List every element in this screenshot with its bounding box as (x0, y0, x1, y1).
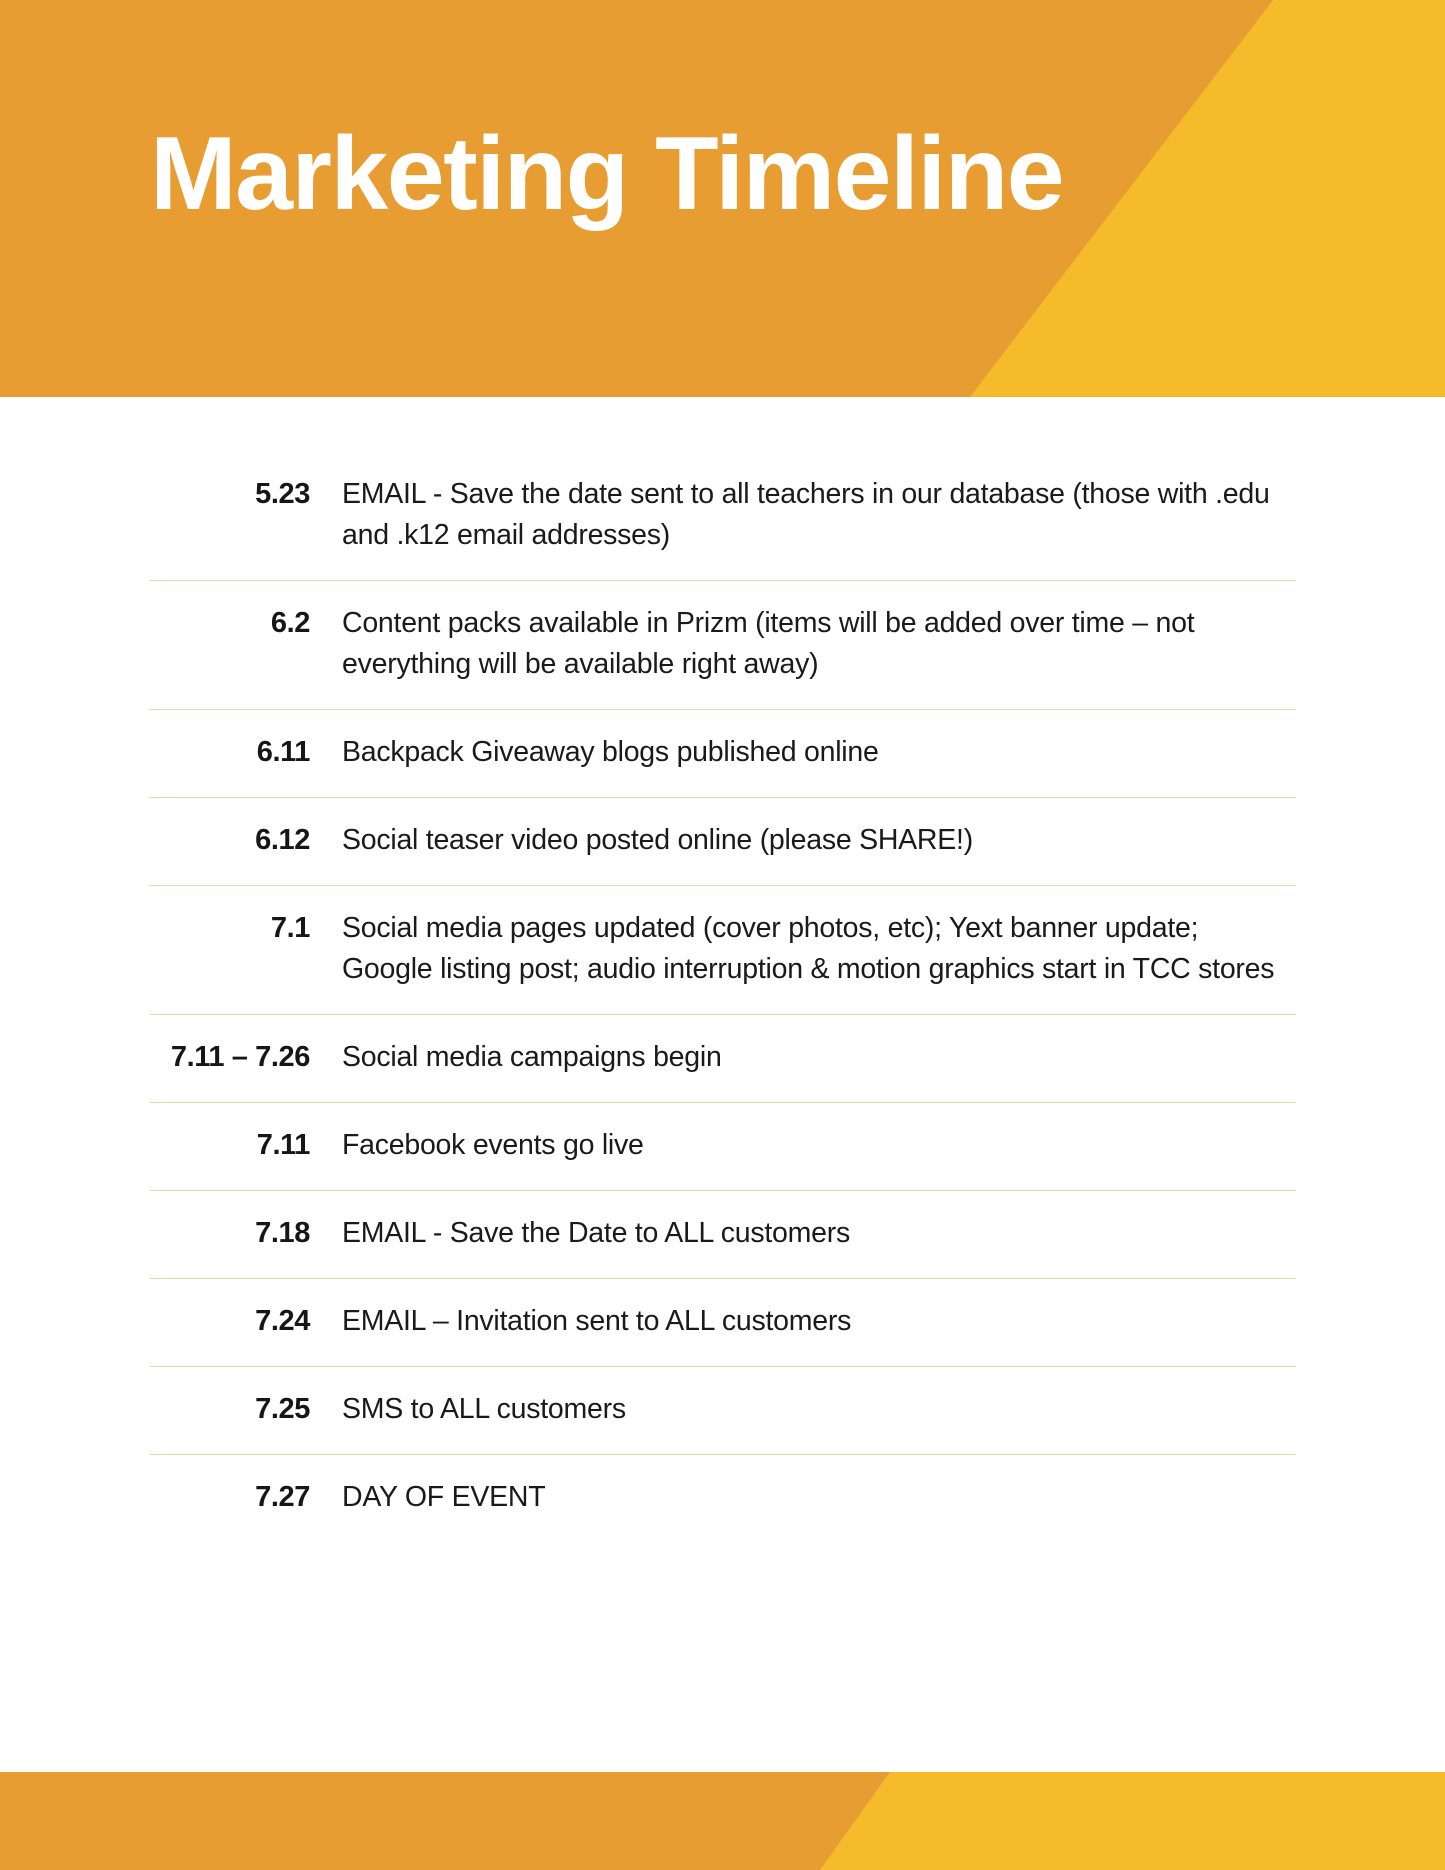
timeline-row: 6.11 Backpack Giveaway blogs published o… (150, 710, 1296, 798)
timeline-row-date: 5.23 (150, 452, 310, 538)
timeline-row-date: 7.1 (150, 886, 310, 972)
timeline-row: 7.1 Social media pages updated (cover ph… (150, 886, 1296, 1015)
timeline-row-description: DAY OF EVENT (310, 1455, 1296, 1542)
timeline-row: 6.12 Social teaser video posted online (… (150, 798, 1296, 886)
timeline-row-description: EMAIL - Save the date sent to all teache… (310, 452, 1296, 580)
timeline-row-date: 6.12 (150, 798, 310, 884)
timeline-row: 7.18 EMAIL - Save the Date to ALL custom… (150, 1191, 1296, 1279)
timeline-row: 7.11 Facebook events go live (150, 1103, 1296, 1191)
timeline-row: 7.11 – 7.26 Social media campaigns begin (150, 1015, 1296, 1103)
timeline-row: 5.23 EMAIL - Save the date sent to all t… (150, 452, 1296, 581)
header-banner: Marketing Timeline (0, 0, 1445, 397)
timeline-row-description: EMAIL – Invitation sent to ALL customers (310, 1279, 1296, 1366)
page-title: Marketing Timeline (150, 118, 1063, 230)
timeline-row-description: SMS to ALL customers (310, 1367, 1296, 1454)
timeline-row-description: EMAIL - Save the Date to ALL customers (310, 1191, 1296, 1278)
footer-banner (0, 1772, 1445, 1870)
timeline-row-date: 6.2 (150, 581, 310, 667)
timeline-row-description: Social media pages updated (cover photos… (310, 886, 1296, 1014)
timeline-row-description: Social teaser video posted online (pleas… (310, 798, 1296, 885)
timeline-list: 5.23 EMAIL - Save the date sent to all t… (150, 452, 1296, 1542)
timeline-row-description: Content packs available in Prizm (items … (310, 581, 1296, 709)
timeline-row-date: 7.11 (150, 1103, 310, 1189)
timeline-row: 7.25 SMS to ALL customers (150, 1367, 1296, 1455)
timeline-row-date: 6.11 (150, 710, 310, 796)
timeline-row-description: Facebook events go live (310, 1103, 1296, 1190)
timeline-row: 6.2 Content packs available in Prizm (it… (150, 581, 1296, 710)
timeline-row-date: 7.24 (150, 1279, 310, 1365)
timeline-row: 7.27 DAY OF EVENT (150, 1455, 1296, 1542)
timeline-row-date: 7.25 (150, 1367, 310, 1453)
footer-diagonal-accent (745, 1772, 1445, 1870)
timeline-row-description: Backpack Giveaway blogs published online (310, 710, 1296, 797)
timeline-row-date: 7.27 (150, 1455, 310, 1541)
timeline-row-date: 7.18 (150, 1191, 310, 1277)
timeline-row-date: 7.11 – 7.26 (150, 1015, 310, 1101)
timeline-row-description: Social media campaigns begin (310, 1015, 1296, 1102)
timeline-row: 7.24 EMAIL – Invitation sent to ALL cust… (150, 1279, 1296, 1367)
